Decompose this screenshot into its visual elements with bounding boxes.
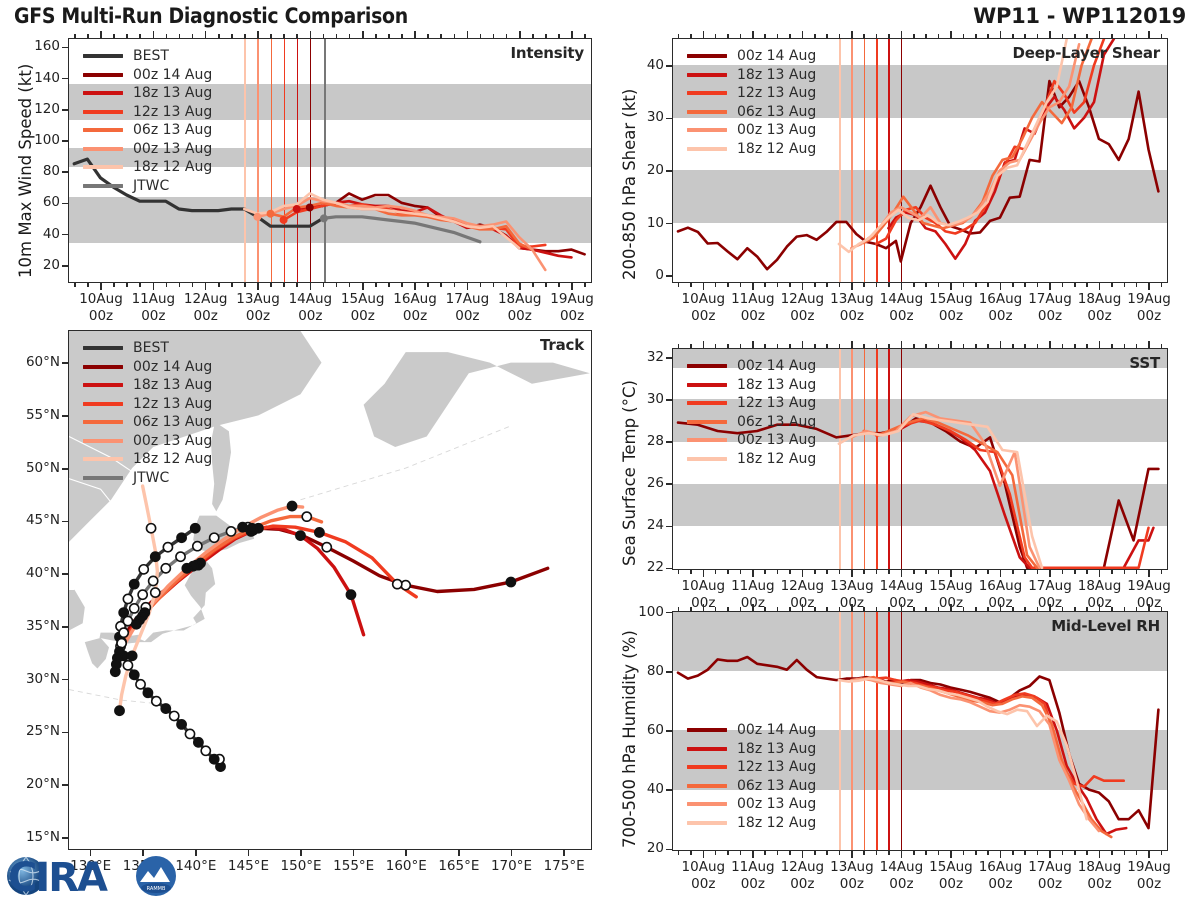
legend-label: 18z 13 Aug (133, 378, 212, 392)
x-tick-top (975, 344, 977, 348)
legend-item[interactable]: 00z 14 Aug (83, 358, 212, 377)
x-tick-minor (1161, 283, 1163, 287)
x-tick-major (1049, 570, 1051, 577)
x-tick-top (802, 341, 804, 348)
x-tick-top (950, 31, 952, 38)
x-tick-top (963, 607, 965, 611)
lon-tick (458, 850, 460, 856)
x-tick-minor (876, 851, 878, 855)
x-tick-minor (283, 283, 285, 287)
panel-shear: 00z 14 Aug18z 13 Aug12z 13 Aug06z 13 Aug… (672, 38, 1168, 283)
series-line-12z-13-aug (876, 678, 1124, 787)
legend-item[interactable]: 06z 13 Aug (687, 777, 816, 796)
legend-swatch (687, 128, 727, 132)
init-marker (253, 213, 261, 221)
x-tick-top (863, 34, 865, 38)
y-tick-label: 60 (614, 722, 664, 738)
x-tick-minor (480, 283, 482, 287)
panel-sst: 00z 14 Aug18z 13 Aug12z 13 Aug06z 13 Aug… (672, 348, 1168, 570)
x-tick-top (310, 31, 312, 38)
y-tick (666, 399, 672, 401)
x-tick-minor (925, 283, 927, 287)
landmass (69, 589, 85, 631)
x-tick-top (1074, 607, 1076, 611)
y-tick-label: 28 (614, 433, 664, 449)
x-tick-minor (913, 851, 915, 855)
x-tick-major (752, 283, 754, 290)
track-marker (193, 542, 202, 551)
x-tick-minor (1136, 570, 1138, 574)
x-tick-top (703, 604, 705, 611)
track-marker (210, 533, 219, 542)
x-tick-top (126, 34, 128, 38)
y-tick-label: 160 (10, 38, 60, 54)
lat-tick (62, 468, 68, 470)
x-tick-top (545, 34, 547, 38)
legend-label: JTWC (133, 471, 169, 485)
x-tick-minor (678, 283, 680, 287)
track-marker (130, 580, 139, 589)
legend-label: 00z 14 Aug (737, 723, 816, 737)
x-tick-top (74, 34, 76, 38)
legend-label: 06z 13 Aug (737, 779, 816, 793)
x-tick-top (863, 344, 865, 348)
x-tick-top (506, 34, 508, 38)
x-tick-minor (179, 283, 181, 287)
x-tick-top (789, 34, 791, 38)
x-tick-minor (1111, 283, 1113, 287)
panel-label-rh: Mid-Level RH (1051, 617, 1160, 635)
y-tick-label: 20 (614, 840, 664, 856)
x-tick-minor (925, 570, 927, 574)
x-tick-top (1024, 344, 1026, 348)
lat-tick-label: 30°N (2, 671, 60, 687)
x-tick-minor (764, 283, 766, 287)
legend-item[interactable]: 00z 14 Aug (687, 721, 816, 740)
legend-item[interactable]: JTWC (83, 469, 212, 488)
x-tick-top (571, 31, 573, 38)
legend-item[interactable]: 12z 13 Aug (687, 84, 816, 103)
y-tick-label: 100 (10, 132, 60, 148)
legend-label: BEST (133, 49, 169, 63)
x-tick-top (913, 344, 915, 348)
track-marker (287, 501, 296, 510)
legend-swatch (83, 439, 123, 443)
x-tick-top (1161, 344, 1163, 348)
track-marker (163, 543, 172, 552)
x-tick-minor (715, 851, 717, 855)
legend-item[interactable]: 00z 14 Aug (83, 66, 212, 85)
x-tick-major (1049, 851, 1051, 858)
legend-swatch (83, 110, 123, 114)
x-tick-minor (126, 283, 128, 287)
y-tick-label: 140 (10, 70, 60, 86)
y-tick (666, 223, 672, 225)
x-tick-top (814, 607, 816, 611)
x-tick-top (1136, 34, 1138, 38)
legend-item[interactable]: 18z 13 Aug (687, 740, 816, 759)
x-tick-minor (913, 570, 915, 574)
x-tick-top (703, 341, 705, 348)
x-tick-top (1074, 34, 1076, 38)
track-marker (130, 670, 139, 679)
x-tick-minor (863, 283, 865, 287)
x-tick-label-hour: 00z (1113, 308, 1185, 324)
x-tick-major (1148, 851, 1150, 858)
page-title: GFS Multi-Run Diagnostic Comparison (14, 4, 408, 28)
legend-swatch (687, 401, 727, 405)
x-tick-top (888, 344, 890, 348)
track-marker (322, 543, 331, 552)
x-tick-major (467, 283, 469, 290)
legend-item[interactable]: 18z 12 Aug (83, 158, 212, 177)
legend-label: 06z 13 Aug (133, 123, 212, 137)
lon-tick-label: 175°E (528, 858, 600, 874)
legend-swatch (687, 420, 727, 424)
x-tick-top (740, 607, 742, 611)
x-tick-minor (876, 283, 878, 287)
x-tick-top (777, 607, 779, 611)
x-tick-major (1049, 283, 1051, 290)
lat-tick (62, 415, 68, 417)
x-tick-top (480, 34, 482, 38)
legend-swatch (687, 765, 727, 769)
lat-tick-label: 20°N (2, 776, 60, 792)
x-tick-minor (454, 283, 456, 287)
track-marker (201, 746, 210, 755)
y-tick-label: 40 (10, 226, 60, 242)
x-tick-top (678, 607, 680, 611)
legend-item[interactable]: 18z 13 Aug (83, 84, 212, 103)
x-tick-top (519, 31, 521, 38)
x-tick-label-hour: 00z (536, 308, 608, 324)
track-marker (161, 564, 170, 573)
y-tick (666, 275, 672, 277)
x-tick-major (1099, 570, 1101, 577)
x-tick-top (1049, 604, 1051, 611)
x-tick-top (1086, 607, 1088, 611)
legend-swatch (83, 91, 123, 95)
x-tick-top (1062, 607, 1064, 611)
x-tick-top (913, 34, 915, 38)
x-tick-minor (1086, 851, 1088, 855)
x-tick-major (901, 570, 903, 577)
x-tick-top (1024, 34, 1026, 38)
x-tick-major (950, 283, 952, 290)
axis-title-sst: Sea Surface Temp (°C) (620, 380, 639, 566)
legend-swatch (687, 747, 727, 751)
x-tick-minor (296, 283, 298, 287)
x-tick-minor (1074, 851, 1076, 855)
legend-item[interactable]: 06z 13 Aug (687, 103, 816, 122)
x-tick-top (839, 344, 841, 348)
x-tick-label-hour: 00z (1113, 876, 1185, 892)
x-tick-major (571, 283, 573, 290)
lat-tick-label: 40°N (2, 565, 60, 581)
x-tick-top (584, 34, 586, 38)
legend-swatch (83, 147, 123, 151)
x-tick-top (777, 344, 779, 348)
x-tick-top (283, 34, 285, 38)
x-tick-top (414, 31, 416, 38)
x-tick-minor (349, 283, 351, 287)
legend-item[interactable]: 12z 13 Aug (687, 758, 816, 777)
legend-label: 18z 12 Aug (737, 816, 816, 830)
legend-item[interactable]: JTWC (83, 177, 212, 196)
x-tick-top (1124, 344, 1126, 348)
lon-tick (511, 850, 513, 856)
x-tick-major (1148, 570, 1150, 577)
x-tick-minor (1062, 283, 1064, 287)
legend-label: 12z 13 Aug (737, 760, 816, 774)
x-tick-top (703, 31, 705, 38)
x-tick-top (863, 607, 865, 611)
x-tick-top (715, 344, 717, 348)
legend-item[interactable]: 12z 13 Aug (83, 103, 212, 122)
x-tick-minor (323, 283, 325, 287)
x-tick-minor (218, 283, 220, 287)
x-tick-top (975, 34, 977, 38)
track-marker (296, 531, 305, 540)
x-tick-minor (584, 283, 586, 287)
x-tick-top (296, 34, 298, 38)
track-marker (247, 524, 256, 533)
panel-label-track: Track (540, 336, 584, 354)
legend-shear: 00z 14 Aug18z 13 Aug12z 13 Aug06z 13 Aug… (687, 47, 816, 158)
x-tick-minor (789, 851, 791, 855)
x-tick-major (257, 283, 259, 290)
y-tick (62, 203, 68, 205)
legend-item[interactable]: BEST (83, 339, 212, 358)
x-tick-major (752, 570, 754, 577)
legend-item[interactable]: 06z 13 Aug (83, 413, 212, 432)
x-tick-top (851, 31, 853, 38)
x-tick-minor (87, 283, 89, 287)
y-tick (666, 849, 672, 851)
x-tick-minor (1024, 283, 1026, 287)
track-marker (177, 533, 186, 542)
y-tick-label: 32 (614, 349, 664, 365)
x-tick-minor (814, 851, 816, 855)
track-marker (146, 524, 155, 533)
x-tick-minor (678, 570, 680, 574)
track-marker (132, 620, 141, 629)
landmass (211, 423, 231, 512)
legend-label: 18z 12 Aug (737, 452, 816, 466)
x-tick-top (166, 34, 168, 38)
x-tick-minor (863, 851, 865, 855)
x-tick-top (454, 34, 456, 38)
x-tick-top (987, 607, 989, 611)
x-tick-minor (740, 570, 742, 574)
x-tick-top (1099, 604, 1101, 611)
y-tick (62, 109, 68, 111)
legend-item[interactable]: 00z 14 Aug (687, 47, 816, 66)
legend-item[interactable]: 18z 13 Aug (687, 376, 816, 395)
legend-swatch (83, 165, 123, 169)
legend-label: 00z 14 Aug (133, 360, 212, 374)
legend-label: 12z 13 Aug (133, 105, 212, 119)
x-tick-minor (727, 283, 729, 287)
x-tick-top (764, 344, 766, 348)
legend-item[interactable]: 00z 13 Aug (83, 432, 212, 451)
x-tick-minor (1062, 851, 1064, 855)
legend-item[interactable]: 18z 12 Aug (83, 450, 212, 469)
legend-label: 18z 13 Aug (737, 378, 816, 392)
x-tick-top (375, 34, 377, 38)
x-tick-top (1086, 344, 1088, 348)
legend-item[interactable]: 00z 13 Aug (83, 140, 212, 159)
x-tick-top (938, 344, 940, 348)
legend-swatch (687, 110, 727, 114)
x-tick-top (179, 34, 181, 38)
y-tick (666, 671, 672, 673)
x-tick-top (913, 607, 915, 611)
x-tick-top (1111, 344, 1113, 348)
x-tick-top (764, 607, 766, 611)
x-tick-top (1111, 607, 1113, 611)
x-tick-top (467, 31, 469, 38)
legend-item[interactable]: 00z 13 Aug (687, 121, 816, 140)
legend-label: 18z 12 Aug (133, 452, 212, 466)
legend-item[interactable]: 18z 13 Aug (83, 376, 212, 395)
lat-tick-label: 60°N (2, 354, 60, 370)
legend-item[interactable]: 06z 13 Aug (687, 413, 816, 432)
x-tick-minor (1136, 283, 1138, 287)
x-tick-top (1012, 34, 1014, 38)
x-tick-minor (963, 570, 965, 574)
track-marker (176, 552, 185, 561)
lat-tick-label: 35°N (2, 618, 60, 634)
x-tick-top (752, 31, 754, 38)
x-tick-top (192, 34, 194, 38)
x-tick-major (519, 283, 521, 290)
x-tick-top (950, 604, 952, 611)
x-tick-top (901, 604, 903, 611)
x-tick-top (715, 607, 717, 611)
x-tick-top (1037, 34, 1039, 38)
x-tick-major (1148, 283, 1150, 290)
legend-item[interactable]: 00z 14 Aug (687, 357, 816, 376)
x-tick-major (153, 283, 155, 290)
y-tick (666, 483, 672, 485)
legend-item[interactable]: BEST (83, 47, 212, 66)
legend-item[interactable]: 12z 13 Aug (83, 395, 212, 414)
legend-swatch (83, 365, 123, 369)
track-marker (130, 604, 139, 613)
x-tick-top (802, 31, 804, 38)
landmass (85, 638, 109, 669)
init-marker (293, 205, 301, 213)
track-marker (151, 552, 160, 561)
x-tick-minor (715, 570, 717, 574)
panel-label-sst: SST (1129, 354, 1160, 372)
legend-swatch (687, 728, 727, 732)
legend-item[interactable]: 18z 12 Aug (687, 814, 816, 833)
x-tick-minor (1012, 283, 1014, 287)
track-marker (139, 565, 148, 574)
legend-label: 00z 13 Aug (737, 797, 816, 811)
x-tick-top (715, 34, 717, 38)
x-tick-top (963, 344, 965, 348)
legend-item[interactable]: 18z 13 Aug (687, 66, 816, 85)
legend-item[interactable]: 00z 13 Aug (687, 795, 816, 814)
track-marker (161, 704, 170, 713)
x-tick-minor (440, 283, 442, 287)
lat-tick (62, 784, 68, 786)
x-tick-top (975, 607, 977, 611)
x-tick-top (789, 607, 791, 611)
x-tick-minor (963, 283, 965, 287)
legend-swatch (687, 821, 727, 825)
legend-swatch (687, 457, 727, 461)
x-tick-top (839, 34, 841, 38)
x-tick-top (1074, 344, 1076, 348)
y-tick (666, 118, 672, 120)
x-tick-top (1111, 34, 1113, 38)
legend-item[interactable]: 18z 12 Aug (687, 450, 816, 469)
x-tick-minor (777, 851, 779, 855)
x-tick-top (1148, 341, 1150, 348)
y-tick-label: 24 (614, 517, 664, 533)
y-tick (666, 441, 672, 443)
legend-rh: 00z 14 Aug18z 13 Aug12z 13 Aug06z 13 Aug… (687, 721, 816, 832)
x-tick-top (1012, 344, 1014, 348)
legend-label: JTWC (133, 179, 169, 193)
x-tick-major (901, 851, 903, 858)
x-tick-top (349, 34, 351, 38)
x-tick-top (323, 34, 325, 38)
x-tick-top (727, 607, 729, 611)
legend-swatch (83, 457, 123, 461)
y-tick (62, 140, 68, 142)
x-tick-label-day: 19Aug (1113, 578, 1185, 594)
x-tick-minor (715, 283, 717, 287)
x-tick-minor (963, 851, 965, 855)
track-marker (170, 711, 179, 720)
track-marker (210, 755, 219, 764)
x-tick-top (925, 607, 927, 611)
y-tick-label: 30 (614, 391, 664, 407)
x-tick-top (1062, 344, 1064, 348)
legend-label: 00z 13 Aug (133, 434, 212, 448)
track-marker (151, 588, 160, 597)
legend-item[interactable]: 12z 13 Aug (687, 394, 816, 413)
x-tick-top (257, 31, 259, 38)
legend-item[interactable]: 18z 12 Aug (687, 140, 816, 159)
x-tick-top (401, 34, 403, 38)
x-tick-minor (826, 570, 828, 574)
x-tick-major (851, 570, 853, 577)
legend-label: 00z 14 Aug (737, 49, 816, 63)
x-tick-top (690, 607, 692, 611)
panel-label-shear: Deep-Layer Shear (1012, 44, 1160, 62)
track-marker (194, 738, 203, 747)
legend-item[interactable]: 06z 13 Aug (83, 121, 212, 140)
x-tick-top (987, 34, 989, 38)
x-tick-top (1124, 34, 1126, 38)
legend-item[interactable]: 00z 13 Aug (687, 431, 816, 450)
x-tick-top (100, 31, 102, 38)
x-tick-minor (1124, 570, 1126, 574)
x-tick-top (205, 31, 207, 38)
x-tick-minor (863, 570, 865, 574)
x-tick-label-day: 19Aug (536, 291, 608, 307)
lat-tick-label: 50°N (2, 460, 60, 476)
x-tick-top (113, 34, 115, 38)
x-tick-top (139, 34, 141, 38)
x-tick-minor (532, 283, 534, 287)
